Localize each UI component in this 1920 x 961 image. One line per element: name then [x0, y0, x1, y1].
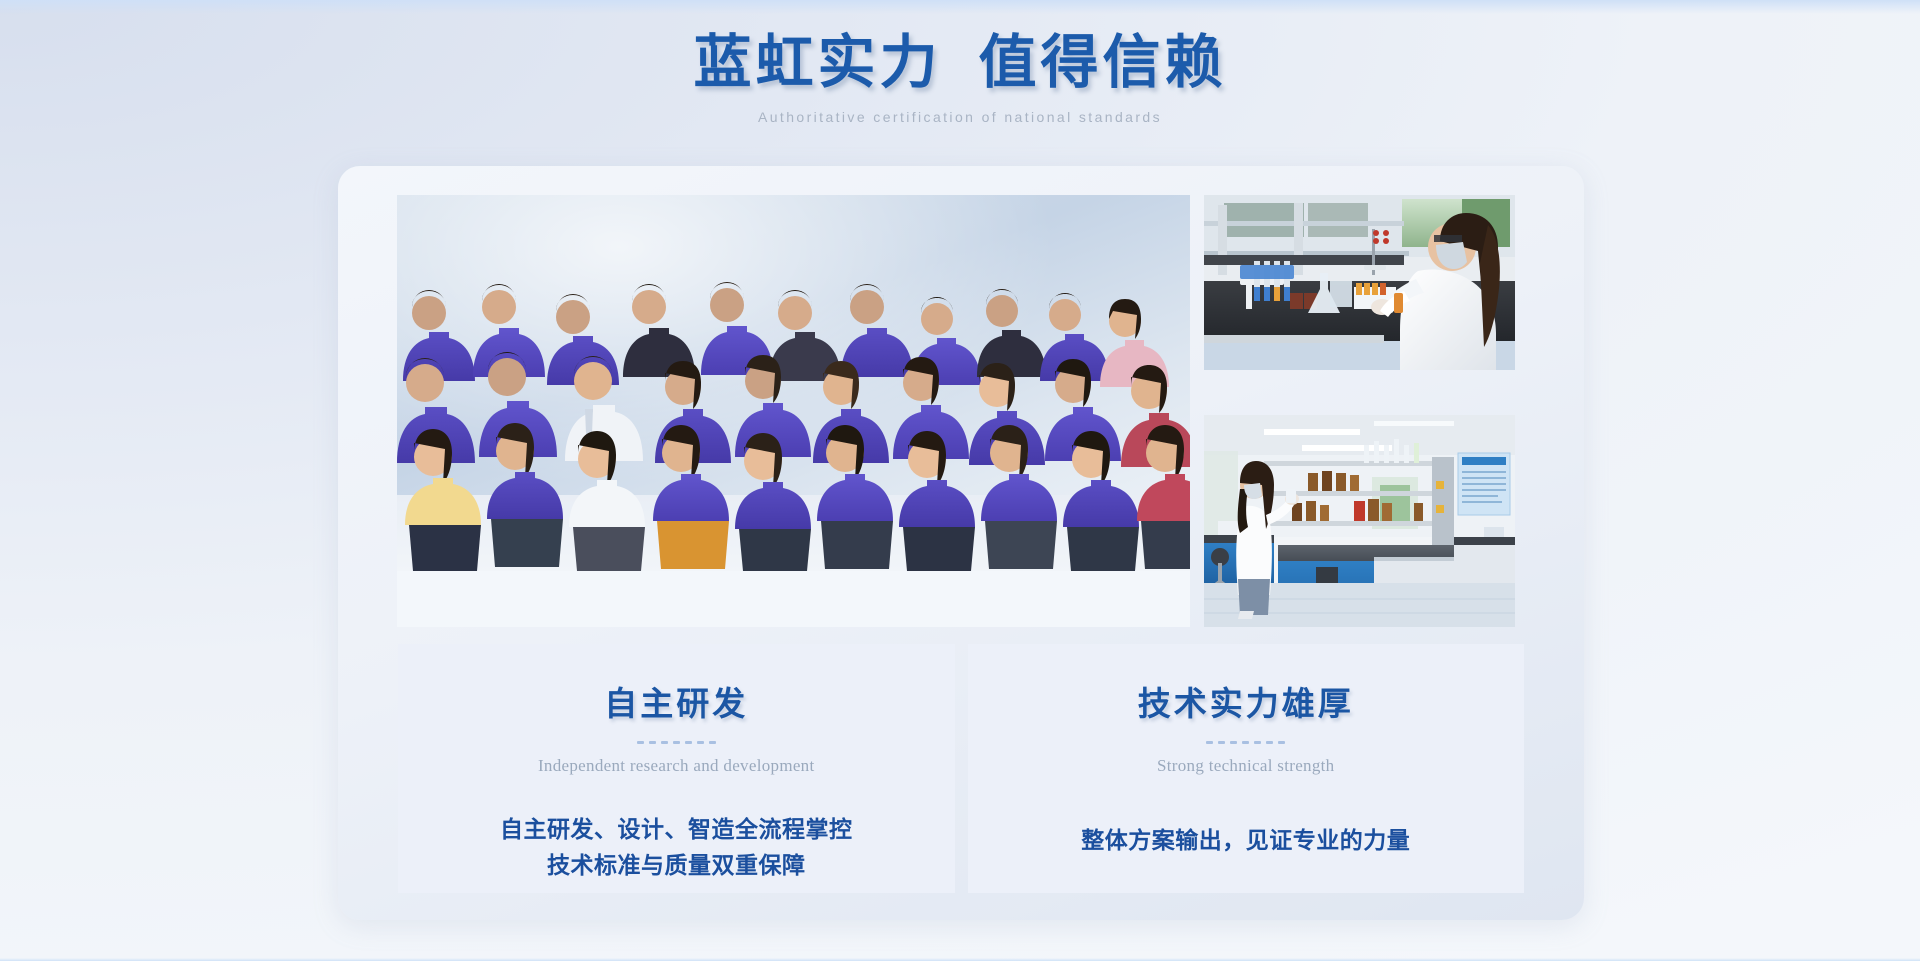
feature-cards: 自主研发 Independent research and developmen… [398, 644, 1524, 893]
divider-dash [637, 741, 644, 744]
divider-dash [1230, 741, 1237, 744]
card-description: 自主研发、设计、智造全流程掌控 技术标准与质量双重保障 [500, 812, 853, 883]
card-description: 整体方案输出，见证专业的力量 [1081, 823, 1410, 859]
card-english-subtitle: Strong technical strength [1157, 756, 1334, 776]
feature-card-independent-rd[interactable]: 自主研发 Independent research and developmen… [398, 644, 955, 893]
divider-dash [709, 741, 716, 744]
divider-dash [1278, 741, 1285, 744]
card-description-line: 技术标准与质量双重保障 [547, 853, 806, 878]
divider-dash [649, 741, 656, 744]
lab-technician-photo [1204, 195, 1515, 370]
divider-dash [697, 741, 704, 744]
page-subtitle: Authoritative certification of national … [0, 109, 1920, 125]
card-title: 技术实力雄厚 [1138, 677, 1354, 725]
divider-dash [1206, 741, 1213, 744]
dot-divider [637, 741, 716, 744]
card-description-line: 整体方案输出，见证专业的力量 [1081, 828, 1410, 853]
card-english-subtitle: Independent research and development [538, 756, 815, 776]
feature-card-technical-strength[interactable]: 技术实力雄厚 Strong technical strength 整体方案输出，… [968, 644, 1525, 893]
divider-dash [1254, 741, 1261, 744]
card-description-line: 自主研发、设计、智造全流程掌控 [500, 817, 853, 842]
divider-dash [673, 741, 680, 744]
dot-divider [1206, 741, 1285, 744]
team-group-photo [397, 195, 1190, 627]
divider-dash [1266, 741, 1273, 744]
divider-dash [1218, 741, 1225, 744]
laboratory-room-photo [1204, 415, 1515, 627]
page-header: 蓝虹实力 值得信赖 Authoritative certification of… [0, 30, 1920, 125]
divider-dash [685, 741, 692, 744]
divider-dash [661, 741, 668, 744]
divider-dash [1242, 741, 1249, 744]
page-title: 蓝虹实力 值得信赖 [0, 30, 1920, 97]
card-title: 自主研发 [604, 677, 748, 725]
page-root: 蓝虹实力 值得信赖 Authoritative certification of… [0, 0, 1920, 961]
content-panel: 自主研发 Independent research and developmen… [338, 166, 1584, 920]
